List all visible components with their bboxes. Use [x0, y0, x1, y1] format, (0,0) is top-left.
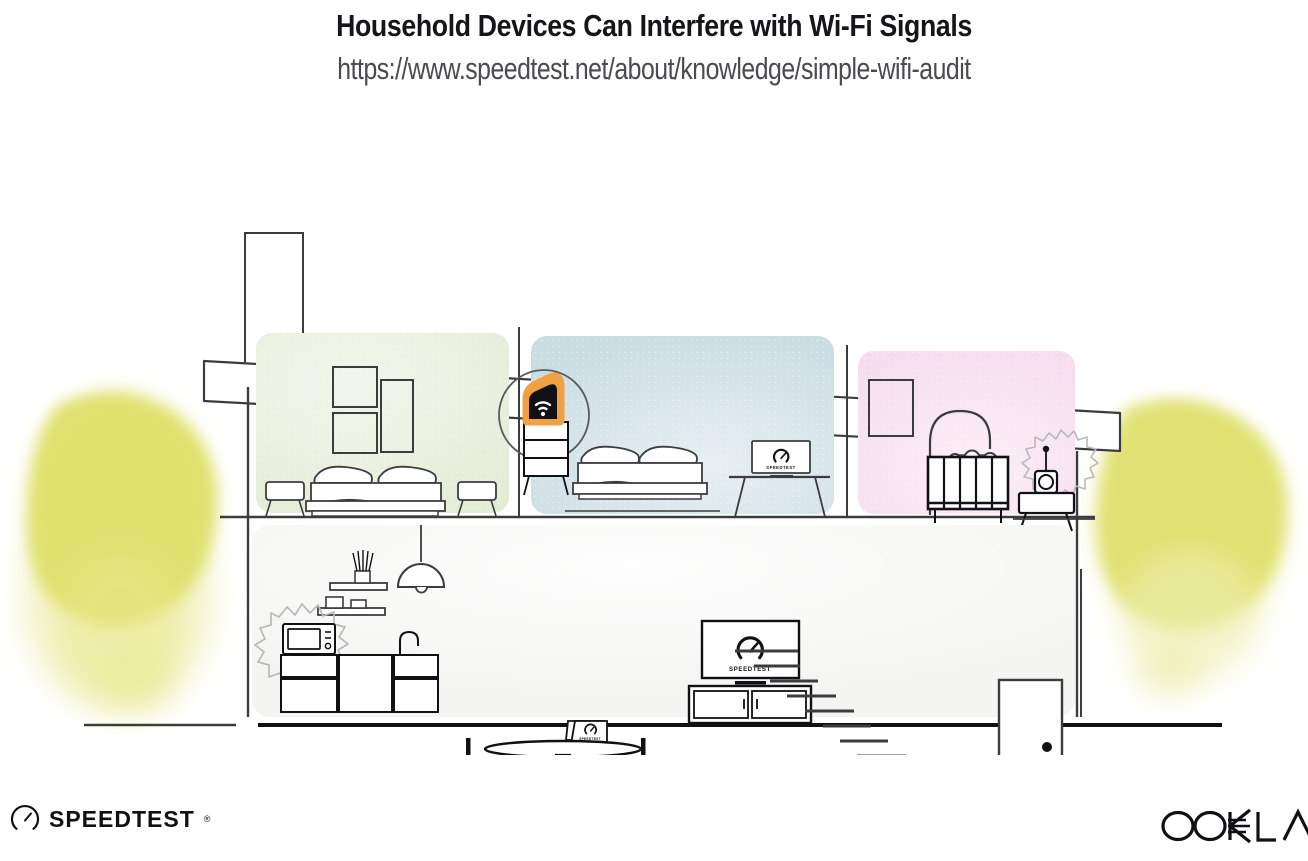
speedtest-trademark: ® [204, 814, 211, 824]
page-title: Household Devices Can Interfere with Wi-… [92, 0, 1217, 44]
ookla-logo [1158, 804, 1308, 853]
tv-screen-label: SPEEDTEST [729, 667, 771, 673]
speedtest-logo: SPEEDTEST ® [10, 804, 210, 834]
footer: SPEEDTEST ® [0, 790, 1308, 861]
wifi-router[interactable] [527, 377, 560, 421]
room-nursery-pink [858, 351, 1098, 531]
infographic-page: Household Devices Can Interfere with Wi-… [0, 0, 1308, 861]
room-bedroom-blue: SPEEDTEST [531, 336, 834, 517]
ookla-wordmark-svg [1158, 804, 1308, 848]
microwave [283, 624, 335, 654]
television-group: SPEEDTEST [689, 621, 811, 723]
house-cutaway-illustration: SPEEDTEST [0, 105, 1308, 755]
television: SPEEDTEST [702, 621, 799, 685]
speedtest-wordmark: SPEEDTEST [49, 806, 195, 833]
door-knob-icon[interactable] [1042, 742, 1052, 752]
desktop-monitor: SPEEDTEST [752, 441, 810, 478]
speedtest-gauge-logo-icon [10, 804, 40, 834]
header: Household Devices Can Interfere with Wi-… [0, 0, 1308, 87]
media-console [689, 686, 811, 723]
foliage-left [22, 393, 216, 715]
foliage-right [1098, 399, 1287, 697]
source-url: https://www.speedtest.net/about/knowledg… [131, 44, 1177, 87]
front-door[interactable] [999, 680, 1062, 755]
monitor-screen-label: SPEEDTEST [766, 465, 795, 470]
room-bedroom-green [256, 333, 509, 516]
